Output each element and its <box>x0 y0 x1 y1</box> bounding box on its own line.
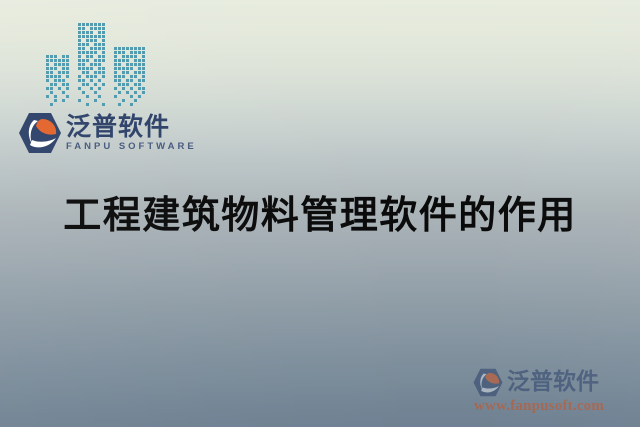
pixel-cell <box>102 103 105 106</box>
pixel-cell <box>54 75 57 78</box>
pixel-cell <box>102 39 105 42</box>
pixel-cell <box>86 35 89 38</box>
pixel-cell <box>86 87 89 90</box>
pixel-cell <box>94 27 97 30</box>
pixel-cell <box>62 91 65 94</box>
pixel-cell <box>58 99 61 102</box>
pixel-cell <box>62 83 65 86</box>
pixel-cell <box>86 39 89 42</box>
pixel-cell <box>118 75 121 78</box>
pixel-cell <box>98 27 101 30</box>
pixel-cell <box>90 31 93 34</box>
pixel-cell <box>78 103 81 106</box>
pixel-cell <box>126 87 129 90</box>
pixel-cell <box>138 51 141 54</box>
pixel-cell <box>62 67 65 70</box>
pixel-cell <box>102 71 105 74</box>
pixel-cell <box>98 79 101 82</box>
pixel-cell <box>62 63 65 66</box>
pixel-cell <box>98 67 101 70</box>
pixel-cell <box>134 95 137 98</box>
pixel-cell <box>142 83 145 86</box>
pixel-cell <box>114 91 117 94</box>
pixel-cell <box>50 91 53 94</box>
pixel-cell <box>138 95 141 98</box>
pixel-cell <box>98 75 101 78</box>
pixel-cell <box>138 75 141 78</box>
pixel-cell <box>102 95 105 98</box>
pixel-cell <box>78 63 81 66</box>
pixel-cell <box>122 75 125 78</box>
pixel-cell <box>102 87 105 90</box>
pixel-cell <box>78 95 81 98</box>
pixel-cell <box>62 99 65 102</box>
pixel-cell <box>122 103 125 106</box>
pixel-cell <box>118 79 121 82</box>
pixel-cell <box>90 95 93 98</box>
pixel-cell <box>86 47 89 50</box>
pixel-cell <box>126 55 129 58</box>
pixel-cell <box>118 59 121 62</box>
pixel-city-skyline-icon <box>46 16 146 106</box>
pixel-cell <box>78 31 81 34</box>
pixel-cell <box>102 99 105 102</box>
pixel-cell <box>142 51 145 54</box>
pixel-cell <box>90 83 93 86</box>
pixel-cell <box>62 95 65 98</box>
pixel-cell <box>102 83 105 86</box>
pixel-cell <box>126 75 129 78</box>
pixel-cell <box>102 27 105 30</box>
pixel-cell <box>98 51 101 54</box>
pixel-cell <box>118 63 121 66</box>
pixel-cell <box>102 35 105 38</box>
pixel-cell <box>138 71 141 74</box>
pixel-cell <box>86 75 89 78</box>
pixel-cell <box>118 55 121 58</box>
pixel-cell <box>50 75 53 78</box>
pixel-cell <box>138 47 141 50</box>
pixel-cell <box>46 79 49 82</box>
pixel-cell <box>86 83 89 86</box>
pixel-cell <box>114 79 117 82</box>
pixel-cell <box>46 95 49 98</box>
pixel-cell <box>134 103 137 106</box>
pixel-cell <box>82 75 85 78</box>
pixel-cell <box>82 99 85 102</box>
pixel-cell <box>58 103 61 106</box>
pixel-cell <box>66 59 69 62</box>
pixel-cell <box>58 91 61 94</box>
brand-name-cn: 泛普软件 <box>66 114 197 141</box>
pixel-cell <box>58 83 61 86</box>
pixel-cell <box>82 39 85 42</box>
pixel-cell <box>102 79 105 82</box>
pixel-cell <box>90 103 93 106</box>
pixel-cell <box>86 91 89 94</box>
pixel-cell <box>138 83 141 86</box>
pixel-cell <box>114 95 117 98</box>
pixel-cell <box>86 79 89 82</box>
pixel-cell <box>94 103 97 106</box>
pixel-cell <box>58 59 61 62</box>
pixel-cell <box>50 95 53 98</box>
pixel-cell <box>130 103 133 106</box>
pixel-cell <box>90 39 93 42</box>
pixel-cell <box>66 75 69 78</box>
pixel-cell <box>82 91 85 94</box>
pixel-cell <box>62 59 65 62</box>
pixel-cell <box>90 71 93 74</box>
pixel-cell <box>94 59 97 62</box>
pixel-cell <box>78 51 81 54</box>
pixel-cell <box>90 67 93 70</box>
pixel-cell <box>90 79 93 82</box>
pixel-cell <box>66 87 69 90</box>
pixel-cell <box>94 91 97 94</box>
pixel-cell <box>102 59 105 62</box>
pixel-cell <box>142 75 145 78</box>
pixel-cell <box>62 79 65 82</box>
pixel-cell <box>82 47 85 50</box>
pixel-cell <box>130 47 133 50</box>
pixel-cell <box>130 83 133 86</box>
pixel-cell <box>98 63 101 66</box>
pixel-cell <box>82 55 85 58</box>
pixel-cell <box>82 83 85 86</box>
pixel-cell <box>94 55 97 58</box>
pixel-cell <box>126 63 129 66</box>
pixel-cell <box>98 91 101 94</box>
pixel-cell <box>118 71 121 74</box>
pixel-cell <box>90 91 93 94</box>
pixel-cell <box>122 91 125 94</box>
pixel-cell <box>126 47 129 50</box>
pixel-cell <box>90 23 93 26</box>
pixel-cell <box>98 35 101 38</box>
brand-text-block: 泛普软件 FANPU SOFTWARE <box>66 114 197 152</box>
slide-headline: 工程建筑物料管理软件的作用 <box>0 192 640 238</box>
pixel-cell <box>94 75 97 78</box>
pixel-cell <box>54 87 57 90</box>
pixel-cell <box>102 23 105 26</box>
pixel-cell <box>78 79 81 82</box>
pixel-cell <box>90 51 93 54</box>
pixel-cell <box>102 47 105 50</box>
pixel-cell <box>94 47 97 50</box>
pixel-cell <box>94 67 97 70</box>
pixel-cell <box>142 71 145 74</box>
pixel-cell <box>122 99 125 102</box>
pixel-cell <box>78 27 81 30</box>
pixel-cell <box>94 79 97 82</box>
pixel-cell <box>130 79 133 82</box>
pixel-cell <box>114 71 117 74</box>
pixel-cell <box>114 55 117 58</box>
pixel-cell <box>142 67 145 70</box>
pixel-cell <box>46 63 49 66</box>
presentation-slide: 泛普软件 FANPU SOFTWARE 工程建筑物料管理软件的作用 泛普软件 w… <box>0 0 640 427</box>
pixel-cell <box>90 27 93 30</box>
pixel-tower-left <box>46 55 72 106</box>
pixel-cell <box>46 87 49 90</box>
pixel-cell <box>78 87 81 90</box>
pixel-cell <box>62 75 65 78</box>
pixel-cell <box>118 47 121 50</box>
pixel-cell <box>78 67 81 70</box>
pixel-cell <box>82 63 85 66</box>
pixel-cell <box>122 63 125 66</box>
pixel-cell <box>118 99 121 102</box>
pixel-cell <box>86 43 89 46</box>
pixel-cell <box>94 51 97 54</box>
watermark-brand-name: 泛普软件 <box>507 371 599 394</box>
pixel-cell <box>78 55 81 58</box>
pixel-cell <box>66 99 69 102</box>
pixel-cell <box>114 51 117 54</box>
pixel-cell <box>50 59 53 62</box>
pixel-cell <box>130 75 133 78</box>
pixel-cell <box>98 103 101 106</box>
pixel-cell <box>78 83 81 86</box>
pixel-cell <box>94 83 97 86</box>
pixel-cell <box>114 75 117 78</box>
pixel-cell <box>122 79 125 82</box>
pixel-cell <box>86 71 89 74</box>
pixel-cell <box>82 35 85 38</box>
watermark: 泛普软件 www.fanpusoft.com <box>472 367 632 419</box>
pixel-cell <box>50 83 53 86</box>
pixel-cell <box>118 67 121 70</box>
pixel-cell <box>78 59 81 62</box>
pixel-cell <box>142 79 145 82</box>
pixel-cell <box>130 63 133 66</box>
pixel-cell <box>114 63 117 66</box>
pixel-cell <box>114 67 117 70</box>
pixel-cell <box>82 79 85 82</box>
pixel-cell <box>122 59 125 62</box>
pixel-tower-center <box>78 23 108 106</box>
pixel-cell <box>102 55 105 58</box>
pixel-cell <box>118 103 121 106</box>
pixel-cell <box>86 63 89 66</box>
pixel-cell <box>78 23 81 26</box>
pixel-cell <box>134 55 137 58</box>
pixel-cell <box>82 51 85 54</box>
pixel-cell <box>138 63 141 66</box>
pixel-cell <box>82 71 85 74</box>
pixel-cell <box>134 51 137 54</box>
pixel-cell <box>134 91 137 94</box>
pixel-cell <box>82 59 85 62</box>
pixel-cell <box>50 71 53 74</box>
pixel-cell <box>94 87 97 90</box>
pixel-cell <box>90 87 93 90</box>
pixel-cell <box>114 87 117 90</box>
pixel-cell <box>98 23 101 26</box>
watermark-url: www.fanpusoft.com <box>474 398 632 415</box>
pixel-cell <box>130 91 133 94</box>
pixel-cell <box>138 103 141 106</box>
pixel-cell <box>118 87 121 90</box>
pixel-cell <box>66 67 69 70</box>
pixel-cell <box>78 47 81 50</box>
pixel-cell <box>122 67 125 70</box>
pixel-cell <box>134 99 137 102</box>
pixel-cell <box>94 63 97 66</box>
pixel-cell <box>66 95 69 98</box>
pixel-cell <box>50 63 53 66</box>
pixel-cell <box>126 91 129 94</box>
pixel-cell <box>126 99 129 102</box>
pixel-cell <box>58 67 61 70</box>
pixel-cell <box>90 35 93 38</box>
pixel-cell <box>54 91 57 94</box>
pixel-cell <box>122 51 125 54</box>
pixel-cell <box>86 99 89 102</box>
pixel-cell <box>54 55 57 58</box>
pixel-cell <box>94 39 97 42</box>
pixel-cell <box>94 71 97 74</box>
pixel-cell <box>46 91 49 94</box>
pixel-cell <box>54 103 57 106</box>
pixel-cell <box>98 39 101 42</box>
pixel-cell <box>54 63 57 66</box>
watermark-logo-row: 泛普软件 <box>472 367 632 397</box>
pixel-cell <box>94 31 97 34</box>
pixel-cell <box>98 83 101 86</box>
pixel-cell <box>130 67 133 70</box>
pixel-cell <box>46 103 49 106</box>
pixel-cell <box>126 79 129 82</box>
pixel-cell <box>138 79 141 82</box>
pixel-cell <box>90 55 93 58</box>
pixel-cell <box>130 59 133 62</box>
pixel-cell <box>130 71 133 74</box>
pixel-cell <box>86 27 89 30</box>
pixel-cell <box>54 71 57 74</box>
pixel-cell <box>126 83 129 86</box>
pixel-cell <box>94 95 97 98</box>
pixel-cell <box>66 55 69 58</box>
pixel-cell <box>122 87 125 90</box>
pixel-cell <box>82 67 85 70</box>
brand-logo: 泛普软件 FANPU SOFTWARE <box>18 110 197 156</box>
pixel-cell <box>142 91 145 94</box>
pixel-cell <box>66 71 69 74</box>
pixel-cell <box>82 31 85 34</box>
pixel-cell <box>78 39 81 42</box>
pixel-cell <box>114 103 117 106</box>
pixel-cell <box>98 95 101 98</box>
pixel-cell <box>90 75 93 78</box>
pixel-cell <box>126 103 129 106</box>
pixel-cell <box>54 59 57 62</box>
pixel-cell <box>130 55 133 58</box>
pixel-cell <box>94 35 97 38</box>
pixel-cell <box>142 59 145 62</box>
pixel-cell <box>114 83 117 86</box>
pixel-cell <box>134 59 137 62</box>
pixel-cell <box>134 47 137 50</box>
pixel-cell <box>138 59 141 62</box>
pixel-cell <box>86 59 89 62</box>
pixel-cell <box>122 55 125 58</box>
pixel-cell <box>134 63 137 66</box>
pixel-cell <box>54 67 57 70</box>
pixel-cell <box>46 83 49 86</box>
pixel-cell <box>50 79 53 82</box>
pixel-cell <box>130 95 133 98</box>
pixel-cell <box>138 87 141 90</box>
pixel-cell <box>134 71 137 74</box>
pixel-cell <box>114 47 117 50</box>
pixel-cell <box>82 27 85 30</box>
pixel-cell <box>90 43 93 46</box>
pixel-cell <box>66 103 69 106</box>
pixel-cell <box>102 51 105 54</box>
fanpu-hexagon-logo-mark-icon <box>472 368 504 397</box>
pixel-cell <box>138 99 141 102</box>
pixel-cell <box>114 99 117 102</box>
brand-name-en: FANPU SOFTWARE <box>66 142 197 152</box>
pixel-cell <box>66 63 69 66</box>
pixel-cell <box>82 23 85 26</box>
pixel-cell <box>58 79 61 82</box>
pixel-cell <box>122 47 125 50</box>
pixel-cell <box>78 75 81 78</box>
pixel-cell <box>102 31 105 34</box>
pixel-cell <box>122 71 125 74</box>
pixel-cell <box>122 95 125 98</box>
pixel-cell <box>78 35 81 38</box>
pixel-cell <box>90 99 93 102</box>
pixel-cell <box>58 87 61 90</box>
pixel-cell <box>126 95 129 98</box>
pixel-cell <box>134 67 137 70</box>
pixel-cell <box>98 31 101 34</box>
pixel-cell <box>46 67 49 70</box>
pixel-cell <box>62 55 65 58</box>
pixel-cell <box>102 91 105 94</box>
pixel-cell <box>86 51 89 54</box>
pixel-cell <box>46 55 49 58</box>
pixel-cell <box>78 91 81 94</box>
pixel-cell <box>102 63 105 66</box>
pixel-cell <box>126 71 129 74</box>
pixel-cell <box>130 87 133 90</box>
pixel-cell <box>118 95 121 98</box>
pixel-cell <box>142 87 145 90</box>
pixel-cell <box>62 87 65 90</box>
pixel-cell <box>98 55 101 58</box>
pixel-cell <box>58 71 61 74</box>
fanpu-hexagon-logo-mark-icon <box>18 112 62 154</box>
pixel-cell <box>46 75 49 78</box>
pixel-cell <box>82 95 85 98</box>
pixel-cell <box>142 55 145 58</box>
pixel-cell <box>118 91 121 94</box>
pixel-cell <box>142 47 145 50</box>
pixel-cell <box>66 83 69 86</box>
pixel-cell <box>94 99 97 102</box>
pixel-cell <box>78 99 81 102</box>
pixel-cell <box>98 43 101 46</box>
pixel-cell <box>78 71 81 74</box>
pixel-cell <box>82 103 85 106</box>
pixel-cell <box>82 87 85 90</box>
pixel-cell <box>118 51 121 54</box>
